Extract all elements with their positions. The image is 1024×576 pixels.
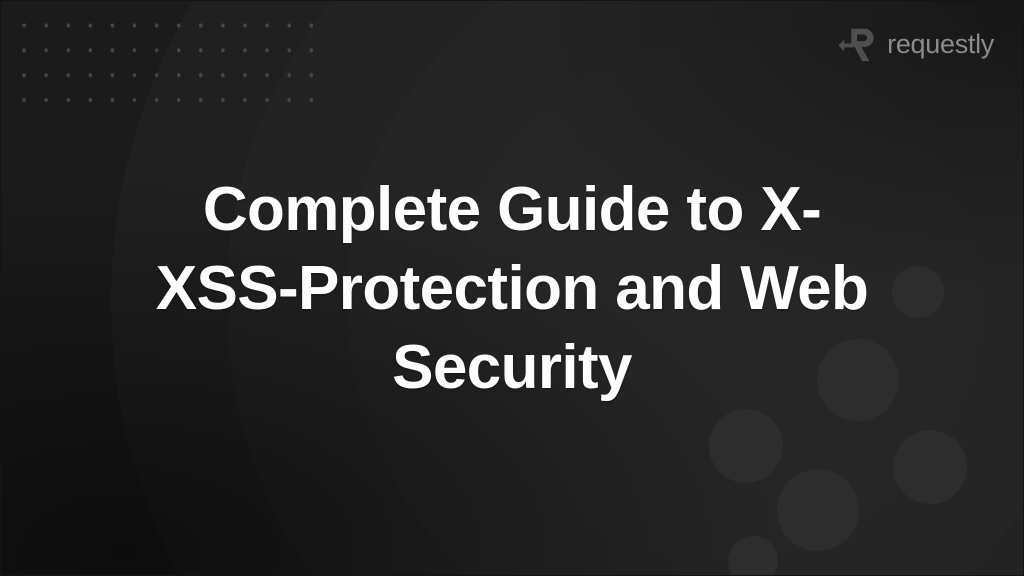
requestly-logo[interactable]: requestly — [838, 25, 994, 63]
requestly-wordmark: requestly — [887, 31, 994, 58]
deco-circle-5 — [777, 469, 859, 551]
slide-canvas: requestly Complete Guide to X-XSS-Protec… — [0, 0, 1024, 576]
title-container: Complete Guide to X-XSS-Protection and W… — [1, 170, 1023, 407]
deco-circle-4 — [893, 430, 967, 504]
slide-title: Complete Guide to X-XSS-Protection and W… — [155, 170, 869, 407]
dot-grid-pattern — [9, 8, 323, 102]
requestly-r-arrow-logo-icon — [838, 25, 876, 63]
deco-circle-3 — [709, 409, 783, 483]
